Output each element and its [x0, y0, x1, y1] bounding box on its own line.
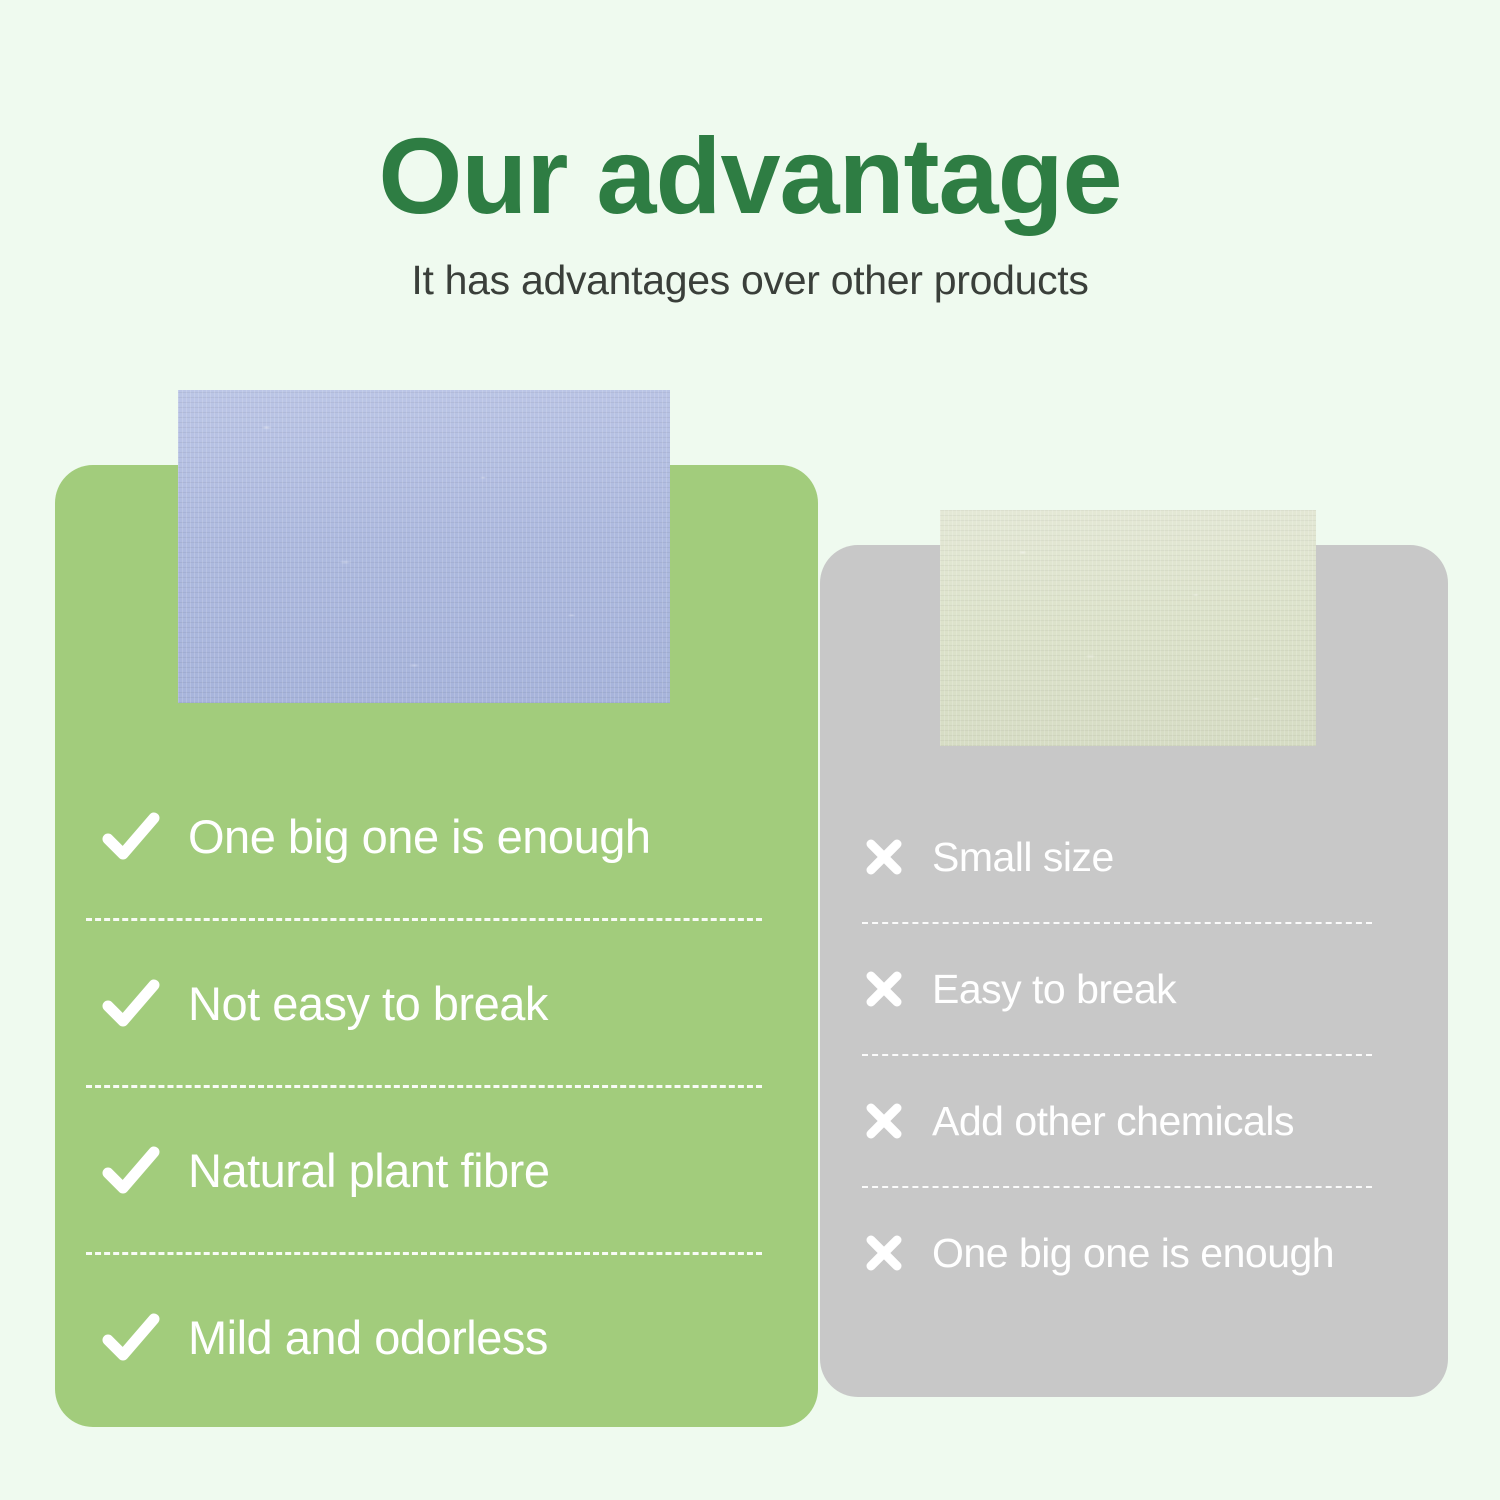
feature-label: Easy to break: [932, 969, 1176, 1010]
list-item: One big one is enough: [100, 790, 800, 882]
list-item: Small size: [862, 820, 1462, 894]
cross-icon: [862, 835, 906, 879]
list-divider: [862, 1054, 1372, 1056]
list-item: Mild and odorless: [100, 1291, 800, 1383]
cross-icon: [862, 1231, 906, 1275]
feature-label: One big one is enough: [932, 1233, 1334, 1274]
check-icon: [100, 972, 162, 1034]
list-divider: [862, 1186, 1372, 1188]
feature-label: Natural plant fibre: [188, 1147, 549, 1194]
cross-icon: [862, 967, 906, 1011]
list-divider: [862, 922, 1372, 924]
comparison-area: One big one is enough Not easy to break …: [0, 0, 1500, 1500]
feature-label: Add other chemicals: [932, 1101, 1294, 1142]
our-product-feature-list: One big one is enough Not easy to break …: [100, 790, 800, 1383]
our-product-image: [178, 390, 670, 703]
list-item: Natural plant fibre: [100, 1124, 800, 1216]
cross-icon: [862, 1099, 906, 1143]
feature-label: Not easy to break: [188, 980, 548, 1027]
feature-label: One big one is enough: [188, 813, 650, 860]
cream-fabric-texture: [940, 510, 1316, 746]
competitor-feature-list: Small size Easy to break Add other chemi…: [862, 820, 1462, 1290]
list-item: Easy to break: [862, 952, 1462, 1026]
list-divider: [86, 1085, 762, 1088]
list-divider: [86, 918, 762, 921]
feature-label: Mild and odorless: [188, 1314, 548, 1361]
competitor-product-image: [940, 510, 1316, 746]
list-divider: [86, 1252, 762, 1255]
list-item: One big one is enough: [862, 1216, 1462, 1290]
check-icon: [100, 805, 162, 867]
list-item: Add other chemicals: [862, 1084, 1462, 1158]
check-icon: [100, 1306, 162, 1368]
feature-label: Small size: [932, 837, 1114, 878]
list-item: Not easy to break: [100, 957, 800, 1049]
check-icon: [100, 1139, 162, 1201]
blue-fabric-texture: [178, 390, 670, 703]
